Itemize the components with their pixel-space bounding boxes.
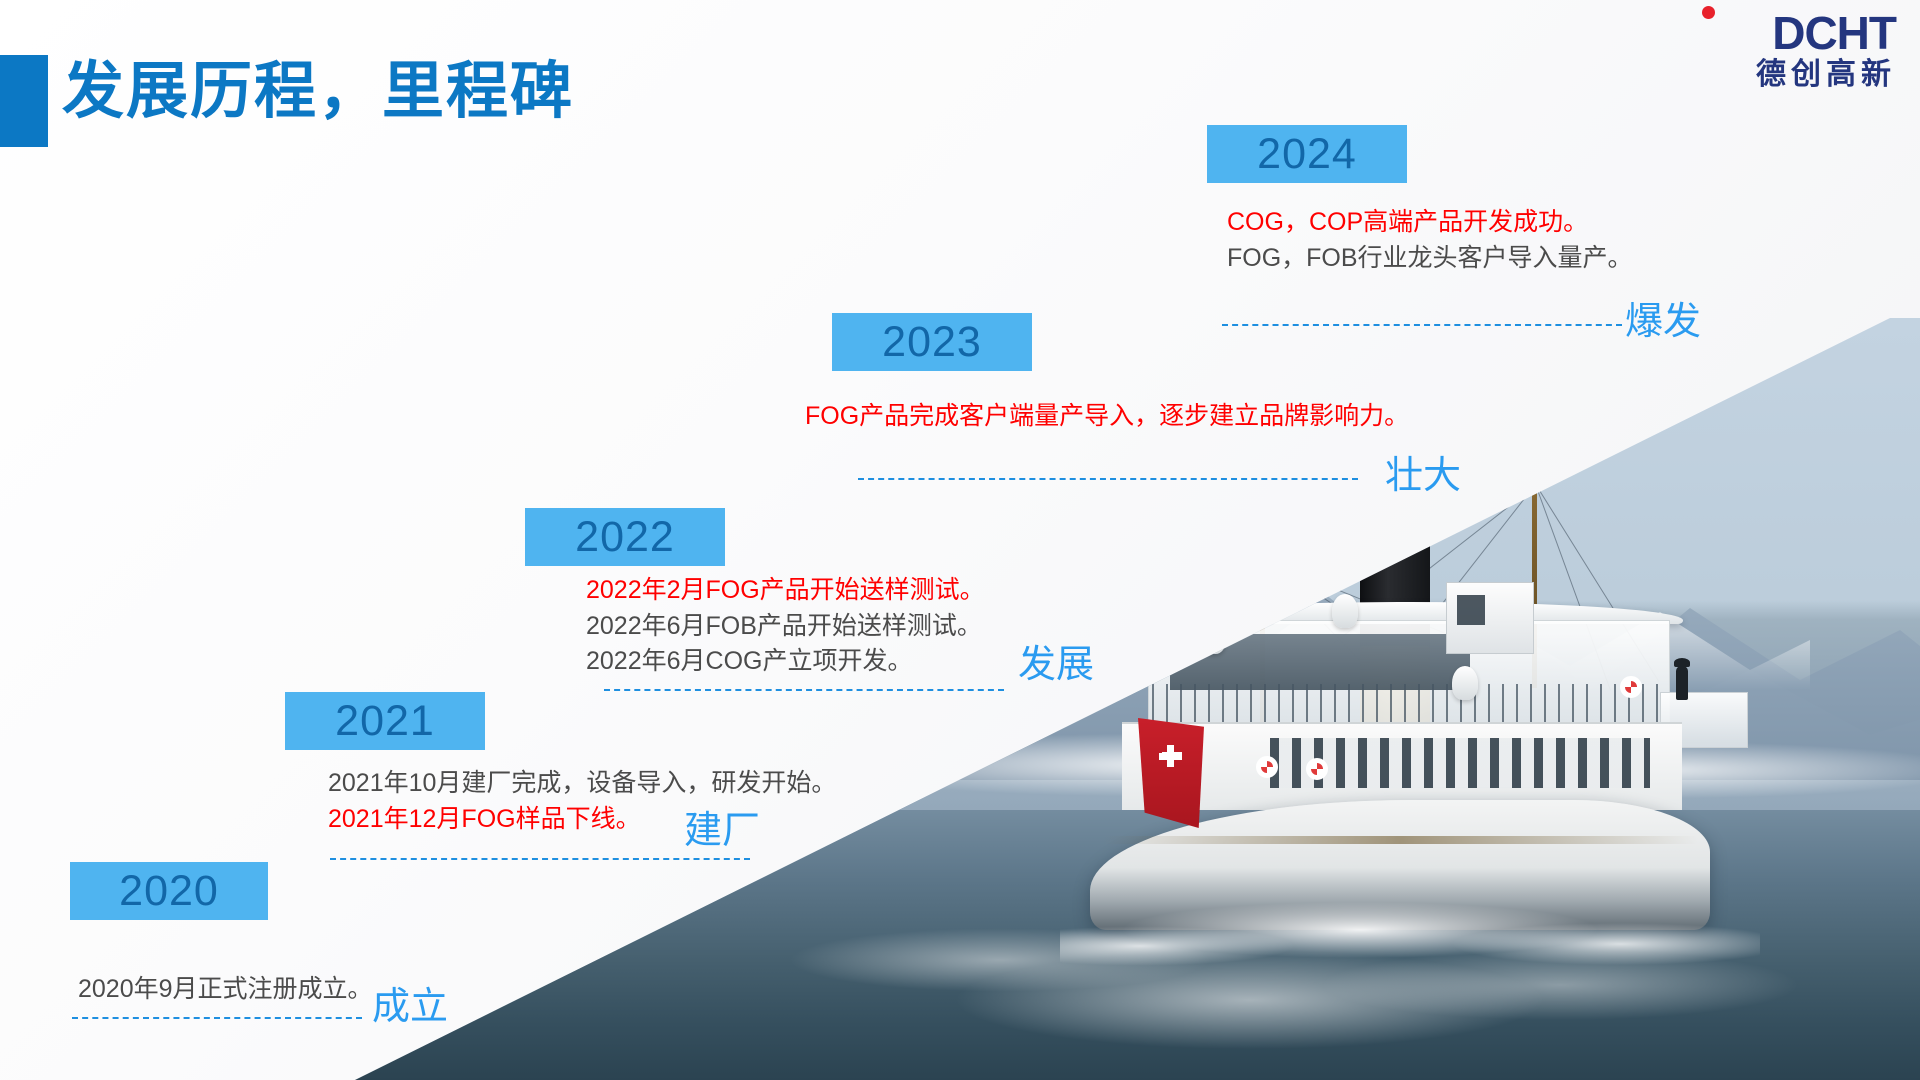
milestone-line: FOG，FOB行业龙头客户导入量产。 — [1227, 241, 1633, 277]
stage-label-2021: 建厂 — [684, 812, 760, 850]
lake-photo — [0, 0, 1920, 1080]
milestone-line: 2021年12月FOG样品下线。 — [328, 802, 836, 838]
logo-chinese-name: 德创高新 — [1696, 60, 1896, 90]
slide-canvas: 发展历程，里程碑 DCHT 德创高新 2024 COG，COP高端产品开发成功。… — [0, 0, 1920, 1080]
milestone-line: FOG产品完成客户端量产导入，逐步建立品牌影响力。 — [805, 399, 1409, 435]
title-accent-bar — [0, 55, 48, 147]
steamboat-icon — [1060, 470, 1780, 1000]
connector-dash-2023 — [858, 478, 1358, 480]
photo-region — [0, 0, 1920, 1080]
year-badge-2021[interactable]: 2021 — [285, 692, 485, 750]
connector-dash-2020 — [72, 1017, 362, 1019]
page-title: 发展历程，里程碑 — [62, 40, 574, 130]
milestone-line: 2020年9月正式注册成立。 — [78, 972, 373, 1008]
connector-dash-2024 — [1222, 324, 1622, 326]
stage-label-2023: 壮大 — [1385, 457, 1461, 495]
year-badge-2024[interactable]: 2024 — [1207, 125, 1407, 183]
stage-label-2020: 成立 — [372, 988, 448, 1026]
year-badge-2022[interactable]: 2022 — [525, 508, 725, 566]
stage-label-2024: 爆发 — [1625, 303, 1701, 341]
year-badge-2023[interactable]: 2023 — [832, 313, 1032, 371]
milestone-line: 2021年10月建厂完成，设备导入，研发开始。 — [328, 766, 836, 802]
logo-mark-text: DCHT — [1772, 10, 1896, 56]
milestone-line: 2022年6月COG产立项开发。 — [586, 644, 985, 680]
milestone-line: COG，COP高端产品开发成功。 — [1227, 205, 1633, 241]
milestone-line: 2022年6月FOB产品开始送样测试。 — [586, 609, 985, 645]
year-badge-2020[interactable]: 2020 — [70, 862, 268, 920]
logo-dot-icon — [1702, 6, 1715, 19]
connector-dash-2021 — [330, 858, 750, 860]
company-logo: DCHT 德创高新 — [1696, 8, 1896, 100]
milestone-line: 2022年2月FOG产品开始送样测试。 — [586, 573, 985, 609]
stage-label-2022: 发展 — [1018, 646, 1094, 684]
connector-dash-2022 — [604, 689, 1004, 691]
logo-wordmark: DCHT — [1696, 8, 1896, 56]
